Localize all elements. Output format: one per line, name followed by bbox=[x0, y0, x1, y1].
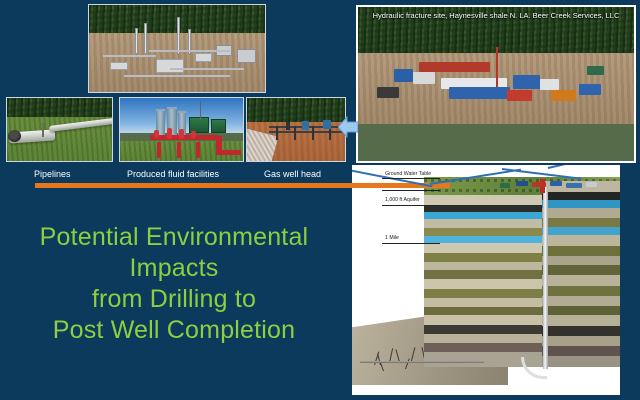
stratum bbox=[424, 270, 542, 279]
plant-tank bbox=[237, 49, 256, 64]
plant-pipe-run bbox=[124, 75, 230, 77]
red-pipe-leg bbox=[196, 142, 200, 158]
red-valve bbox=[154, 130, 159, 139]
stratum-shale bbox=[424, 205, 542, 212]
plant-pipe-run bbox=[170, 68, 244, 70]
frac-site-caption: Hydraulic fracture site, Haynesville sha… bbox=[362, 11, 630, 21]
frac-equipment bbox=[551, 90, 576, 101]
red-pipe-leg bbox=[177, 142, 181, 158]
stratum bbox=[424, 279, 542, 289]
title-line-2: Impacts bbox=[8, 253, 340, 284]
rack-support bbox=[276, 126, 278, 140]
title-line-3: from Drilling to bbox=[8, 284, 340, 315]
stratum-aquifer bbox=[542, 227, 620, 235]
stratum bbox=[424, 343, 542, 352]
frac-equipment bbox=[513, 75, 541, 89]
plant-stack bbox=[135, 28, 138, 54]
stratum bbox=[424, 298, 542, 307]
wellhead-valve bbox=[302, 121, 309, 130]
wellhead-christmas-tree bbox=[286, 122, 290, 130]
red-manifold-outlet bbox=[216, 150, 241, 155]
stratum bbox=[424, 334, 542, 343]
crane-mast bbox=[496, 47, 498, 87]
frac-equipment bbox=[377, 87, 399, 98]
plant-pipe-run bbox=[149, 50, 230, 52]
photo-produced-fluid-facilities bbox=[119, 97, 244, 162]
vertical-wellbore-casing bbox=[543, 187, 548, 369]
stratum bbox=[424, 262, 542, 270]
geologic-cross-section-diagram: Ground Water Table 1,000 ft Aquifer 1 Mi… bbox=[352, 165, 620, 395]
rule-one-mile bbox=[382, 243, 440, 244]
red-pipe-leg bbox=[157, 142, 161, 158]
wellbore-build-curve bbox=[521, 357, 547, 379]
stratum bbox=[542, 286, 620, 296]
photo-pipelines bbox=[6, 97, 113, 162]
surface-truck bbox=[566, 183, 582, 188]
left-arrow-icon bbox=[338, 114, 358, 140]
frac-equipment bbox=[413, 72, 435, 84]
stratum-shale bbox=[542, 192, 620, 200]
horizontal-lateral-wellbore bbox=[360, 361, 484, 363]
wellhead-valve bbox=[323, 120, 331, 129]
plant-pipe-run bbox=[103, 55, 156, 57]
caption-produced-fluid-facilities: Produced fluid facilities bbox=[127, 169, 219, 180]
red-valve bbox=[179, 129, 184, 139]
stratum bbox=[542, 265, 620, 275]
title-line-1: Potential Environmental bbox=[8, 222, 340, 253]
surface-truck bbox=[586, 182, 597, 187]
stratum bbox=[542, 246, 620, 256]
stratum bbox=[542, 208, 620, 218]
caption-pipelines: Pipelines bbox=[34, 169, 71, 180]
stratum bbox=[542, 306, 620, 315]
plant-unit bbox=[195, 53, 213, 62]
stratum bbox=[424, 253, 542, 262]
surface-truck bbox=[550, 181, 562, 186]
frac-fissure bbox=[411, 347, 415, 361]
pipe-rack-rail bbox=[269, 131, 343, 133]
red-valve bbox=[191, 131, 196, 139]
photo-hydraulic-fracture-site: Hydraulic fracture site, Haynesville sha… bbox=[356, 5, 636, 163]
water-flow-line bbox=[548, 165, 620, 169]
frac-equipment bbox=[507, 90, 532, 101]
orange-divider-bar bbox=[35, 183, 450, 188]
stratum bbox=[542, 296, 620, 306]
stratum bbox=[542, 256, 620, 265]
surface-truck bbox=[500, 183, 510, 188]
stratum bbox=[424, 228, 542, 236]
stratum-shale bbox=[542, 326, 620, 336]
stratum bbox=[424, 195, 542, 205]
surface-truck bbox=[532, 182, 546, 187]
stratum bbox=[542, 336, 620, 346]
stratum bbox=[542, 315, 620, 326]
strata-block bbox=[424, 177, 620, 382]
rule-upper bbox=[382, 190, 440, 191]
rack-support bbox=[312, 126, 314, 140]
caption-gas-well-head: Gas well head bbox=[264, 169, 321, 180]
flare-mast bbox=[200, 101, 202, 120]
title-line-4: Post Well Completion bbox=[8, 315, 340, 346]
rule-ground-water-table bbox=[382, 178, 440, 179]
stratum bbox=[542, 346, 620, 356]
label-ground-water-table: Ground Water Table bbox=[385, 171, 431, 178]
stratum-aquifer bbox=[542, 200, 620, 208]
strata-front-face bbox=[424, 195, 542, 367]
rule-aquifer bbox=[382, 205, 440, 206]
plant-unit bbox=[156, 59, 184, 73]
separator-unit bbox=[211, 119, 226, 133]
red-valve bbox=[167, 128, 172, 139]
pipe-support bbox=[42, 123, 44, 137]
pump-truck-row bbox=[419, 62, 491, 71]
strata-right-face bbox=[542, 181, 620, 367]
stratum-shale bbox=[424, 325, 542, 334]
frac-equipment bbox=[540, 79, 559, 90]
stratum bbox=[542, 356, 620, 367]
stratum bbox=[424, 243, 542, 253]
stratum bbox=[424, 307, 542, 315]
stratum bbox=[542, 275, 620, 286]
page-title: Potential Environmental Impacts from Dri… bbox=[8, 222, 340, 346]
plant-unit bbox=[110, 62, 128, 70]
label-aquifer: 1,000 ft Aquifer bbox=[385, 197, 420, 204]
label-one-mile: 1 Mile bbox=[385, 235, 399, 242]
stratum bbox=[542, 235, 620, 246]
stratum bbox=[424, 289, 542, 298]
photo-gas-processing-plant bbox=[88, 4, 266, 93]
plant-stack bbox=[177, 17, 180, 54]
frac-equipment bbox=[394, 69, 413, 83]
stratum-aquifer bbox=[424, 212, 542, 219]
photo-gas-well-head bbox=[246, 97, 346, 162]
blender-unit bbox=[449, 87, 510, 99]
stratum bbox=[424, 219, 542, 228]
stratum bbox=[542, 218, 620, 227]
rack-support bbox=[294, 126, 296, 140]
stratum bbox=[424, 315, 542, 325]
plant-stack bbox=[144, 23, 147, 53]
slide-canvas: Hydraulic fracture site, Haynesville sha… bbox=[0, 0, 640, 400]
frac-equipment bbox=[579, 84, 601, 95]
frac-equipment bbox=[587, 66, 604, 75]
surface-truck bbox=[516, 181, 528, 186]
stratum-aquifer bbox=[424, 236, 542, 243]
